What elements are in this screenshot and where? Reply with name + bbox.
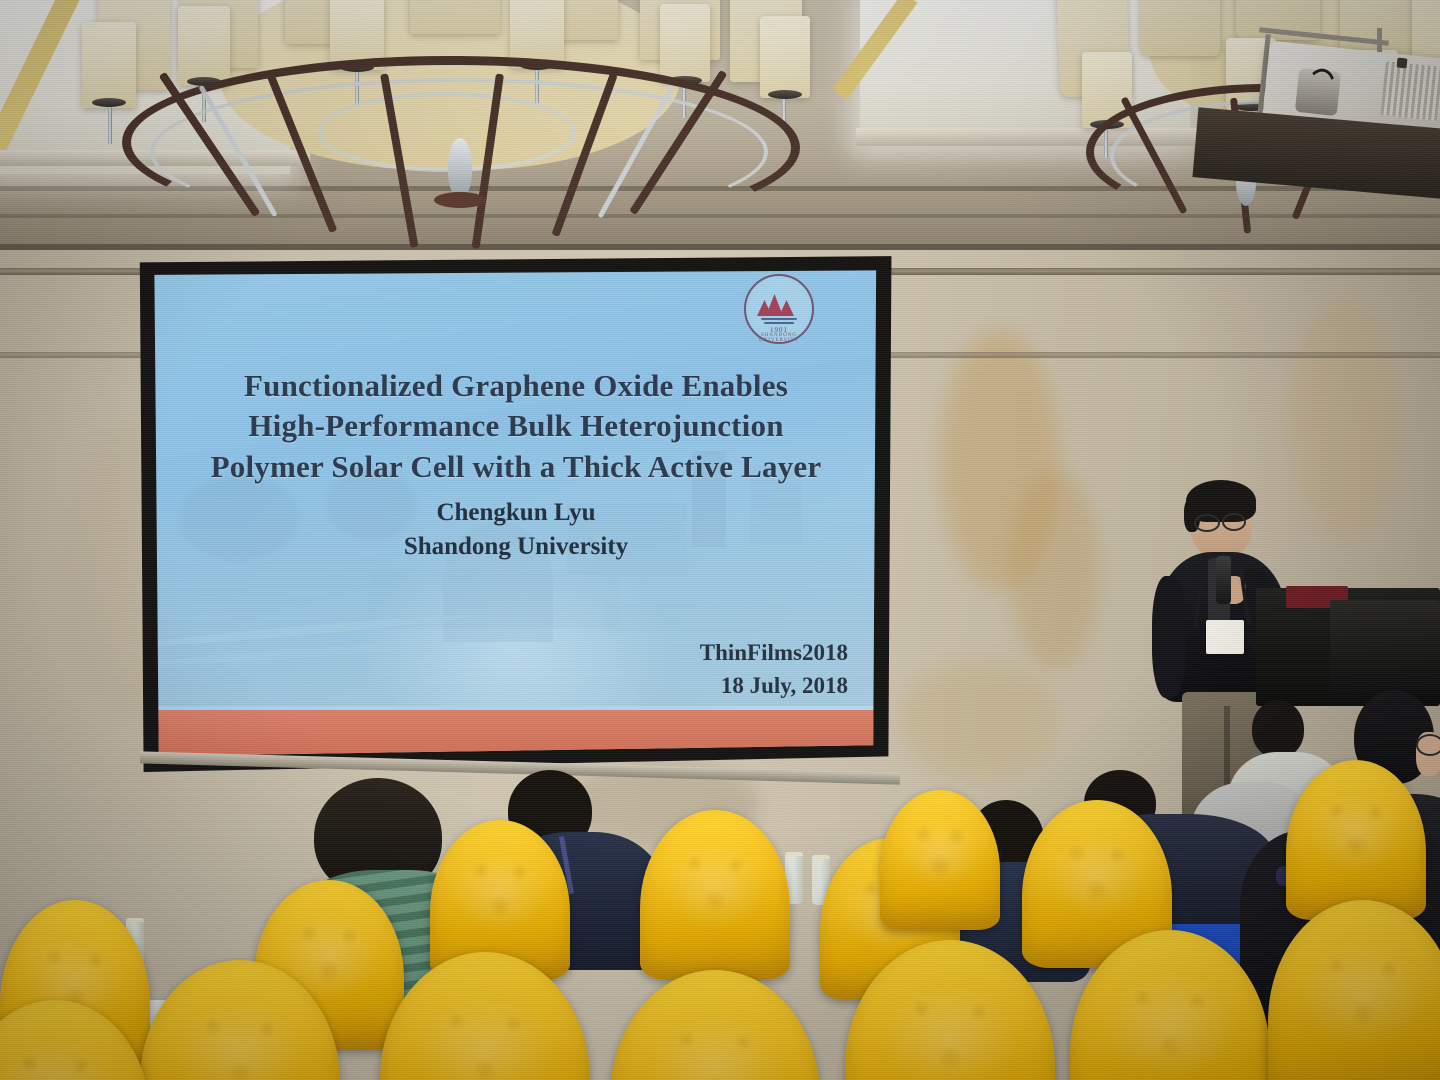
slide-conference-block: ThinFilms2018 18 July, 2018 <box>700 636 848 703</box>
presenter-glasses-icon-right <box>1222 513 1246 531</box>
slide-author-block: Chengkun Lyu Shandong University <box>150 496 882 564</box>
attendee-glasses-icon <box>1416 734 1440 756</box>
chair[interactable] <box>1268 900 1440 1080</box>
chair[interactable] <box>845 940 1055 1080</box>
projector-vent-icon <box>1380 61 1440 121</box>
slide-title: Functionalized Graphene Oxide Enables Hi… <box>150 366 882 487</box>
slide-affiliation: Shandong University <box>150 530 882 564</box>
conference-room-photo: 1901 SHANDONG UNIVERSITY Functionalized … <box>0 0 1440 1080</box>
chair[interactable] <box>880 790 1000 930</box>
slide-title-line-1: Functionalized Graphene Oxide Enables <box>150 366 882 406</box>
presenter-name-badge <box>1206 620 1244 654</box>
presentation-slide: 1901 SHANDONG UNIVERSITY Functionalized … <box>150 266 882 758</box>
chair[interactable] <box>1070 930 1270 1080</box>
chair[interactable] <box>610 970 820 1080</box>
seal-arc-text: SHANDONG UNIVERSITY <box>746 333 812 343</box>
ceiling-chandelier-left <box>30 0 850 240</box>
projection-screen[interactable]: 1901 SHANDONG UNIVERSITY Functionalized … <box>136 252 896 772</box>
slide-conference-name: ThinFilms2018 <box>700 636 848 669</box>
slide-title-line-2: High-Performance Bulk Heterojunction <box>150 406 882 446</box>
slide-date: 18 July, 2018 <box>700 669 848 702</box>
chair[interactable] <box>140 960 340 1080</box>
chair[interactable] <box>1286 760 1426 920</box>
shandong-university-seal-icon: 1901 SHANDONG UNIVERSITY <box>744 274 814 344</box>
presenter-glasses-icon <box>1194 514 1220 532</box>
slide-accent-band <box>150 710 882 758</box>
chair[interactable] <box>0 1000 150 1080</box>
chair[interactable] <box>380 952 590 1080</box>
presenter-arm-left <box>1152 576 1186 698</box>
microphone-icon <box>1216 556 1231 604</box>
chair[interactable] <box>640 810 790 980</box>
slide-author-name: Chengkun Lyu <box>150 496 882 530</box>
slide-title-line-3: Polymer Solar Cell with a Thick Active L… <box>150 447 882 487</box>
